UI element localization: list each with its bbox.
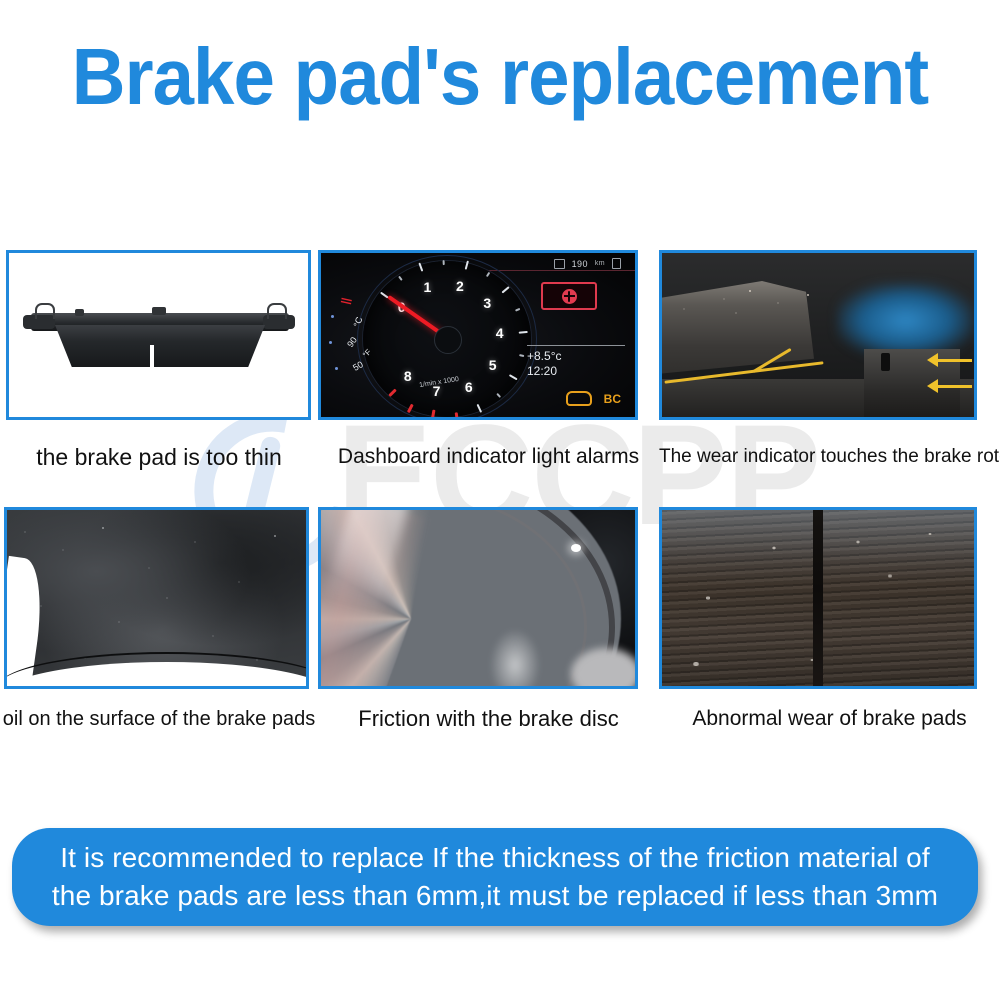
thin-brake-pad-photo xyxy=(6,250,311,420)
tach-number-1: 1 xyxy=(424,279,432,295)
symptom-row-2: oil on the surface of the brake pads xyxy=(0,507,1000,733)
tach-number-3: 3 xyxy=(483,295,491,311)
symptom-row-1: the brake pad is too thin 190 km xyxy=(0,250,1000,472)
range-unit: km xyxy=(595,260,605,267)
range-value: 190 xyxy=(572,259,588,269)
tach-number-2: 2 xyxy=(456,278,464,294)
tach-minor-tick xyxy=(443,260,445,265)
wear-arrow-upper-icon xyxy=(927,353,972,367)
tach-number-5: 5 xyxy=(489,357,497,373)
bc-label: BC xyxy=(604,392,621,406)
dashboard-indicator-photo: 190 km 012345678 xyxy=(318,250,638,420)
symptom-cell-disc-friction: Friction with the brake disc xyxy=(318,507,659,733)
brake-disc-friction-photo xyxy=(318,507,638,689)
wear-indicator-rotor-photo xyxy=(659,250,977,420)
tach-number-8: 8 xyxy=(404,368,412,384)
tach-number-6: 6 xyxy=(465,379,473,395)
clock-readout: 12:20 xyxy=(527,364,625,379)
coolant-unit-f: °F xyxy=(361,347,373,359)
coolant-50: 50 xyxy=(351,359,365,373)
coolant-90: 90 xyxy=(345,335,359,349)
symptom-grid: the brake pad is too thin 190 km xyxy=(0,250,1000,733)
caption-wear-indicator: The wear indicator touches the brake rot… xyxy=(659,442,1000,472)
outside-temperature: +8.5°c xyxy=(527,349,625,364)
tach-number-4: 4 xyxy=(496,325,504,341)
page-title: Brake pad's replacement xyxy=(35,34,965,120)
dashboard-info-box: +8.5°c 12:20 xyxy=(527,345,625,379)
caption-disc-friction: Friction with the brake disc xyxy=(318,705,659,733)
symptom-cell-wear-indicator: The wear indicator touches the brake rot… xyxy=(659,250,1000,472)
brake-warning-light-icon xyxy=(541,282,597,310)
symptom-cell-dashboard: 190 km 012345678 xyxy=(318,250,659,472)
symptom-cell-abnormal-wear: Abnormal wear of brake pads xyxy=(659,507,1000,733)
fuel-pump-icon xyxy=(612,258,621,269)
infographic-page: ECCPP Brake pad's replacement xyxy=(0,0,1000,1000)
abnormal-wear-photo xyxy=(659,507,977,689)
symptom-cell-oily-pad: oil on the surface of the brake pads xyxy=(0,507,318,733)
trip-computer-icon xyxy=(554,259,565,269)
dashboard-topbar: 190 km xyxy=(554,258,621,269)
caption-thin-pad: the brake pad is too thin xyxy=(0,442,318,472)
wear-arrow-lower-icon xyxy=(927,379,972,393)
recommendation-banner: It is recommended to replace If the thic… xyxy=(12,828,978,926)
check-engine-icon xyxy=(566,391,592,406)
dashboard-amber-icons: BC xyxy=(566,391,621,406)
oily-brake-pad-photo xyxy=(4,507,309,689)
coolant-temp-gauge: || °C 90 °F 50 xyxy=(327,295,397,385)
coolant-unit-c: °C xyxy=(352,316,365,329)
caption-abnormal-wear: Abnormal wear of brake pads xyxy=(659,705,1000,733)
recommendation-text: It is recommended to replace If the thic… xyxy=(52,839,938,915)
caption-dashboard: Dashboard indicator light alarms xyxy=(318,442,659,472)
coolant-redline: || xyxy=(340,297,353,306)
caption-oily-pad: oil on the surface of the brake pads xyxy=(0,705,318,733)
symptom-cell-thin-pad: the brake pad is too thin xyxy=(0,250,318,472)
